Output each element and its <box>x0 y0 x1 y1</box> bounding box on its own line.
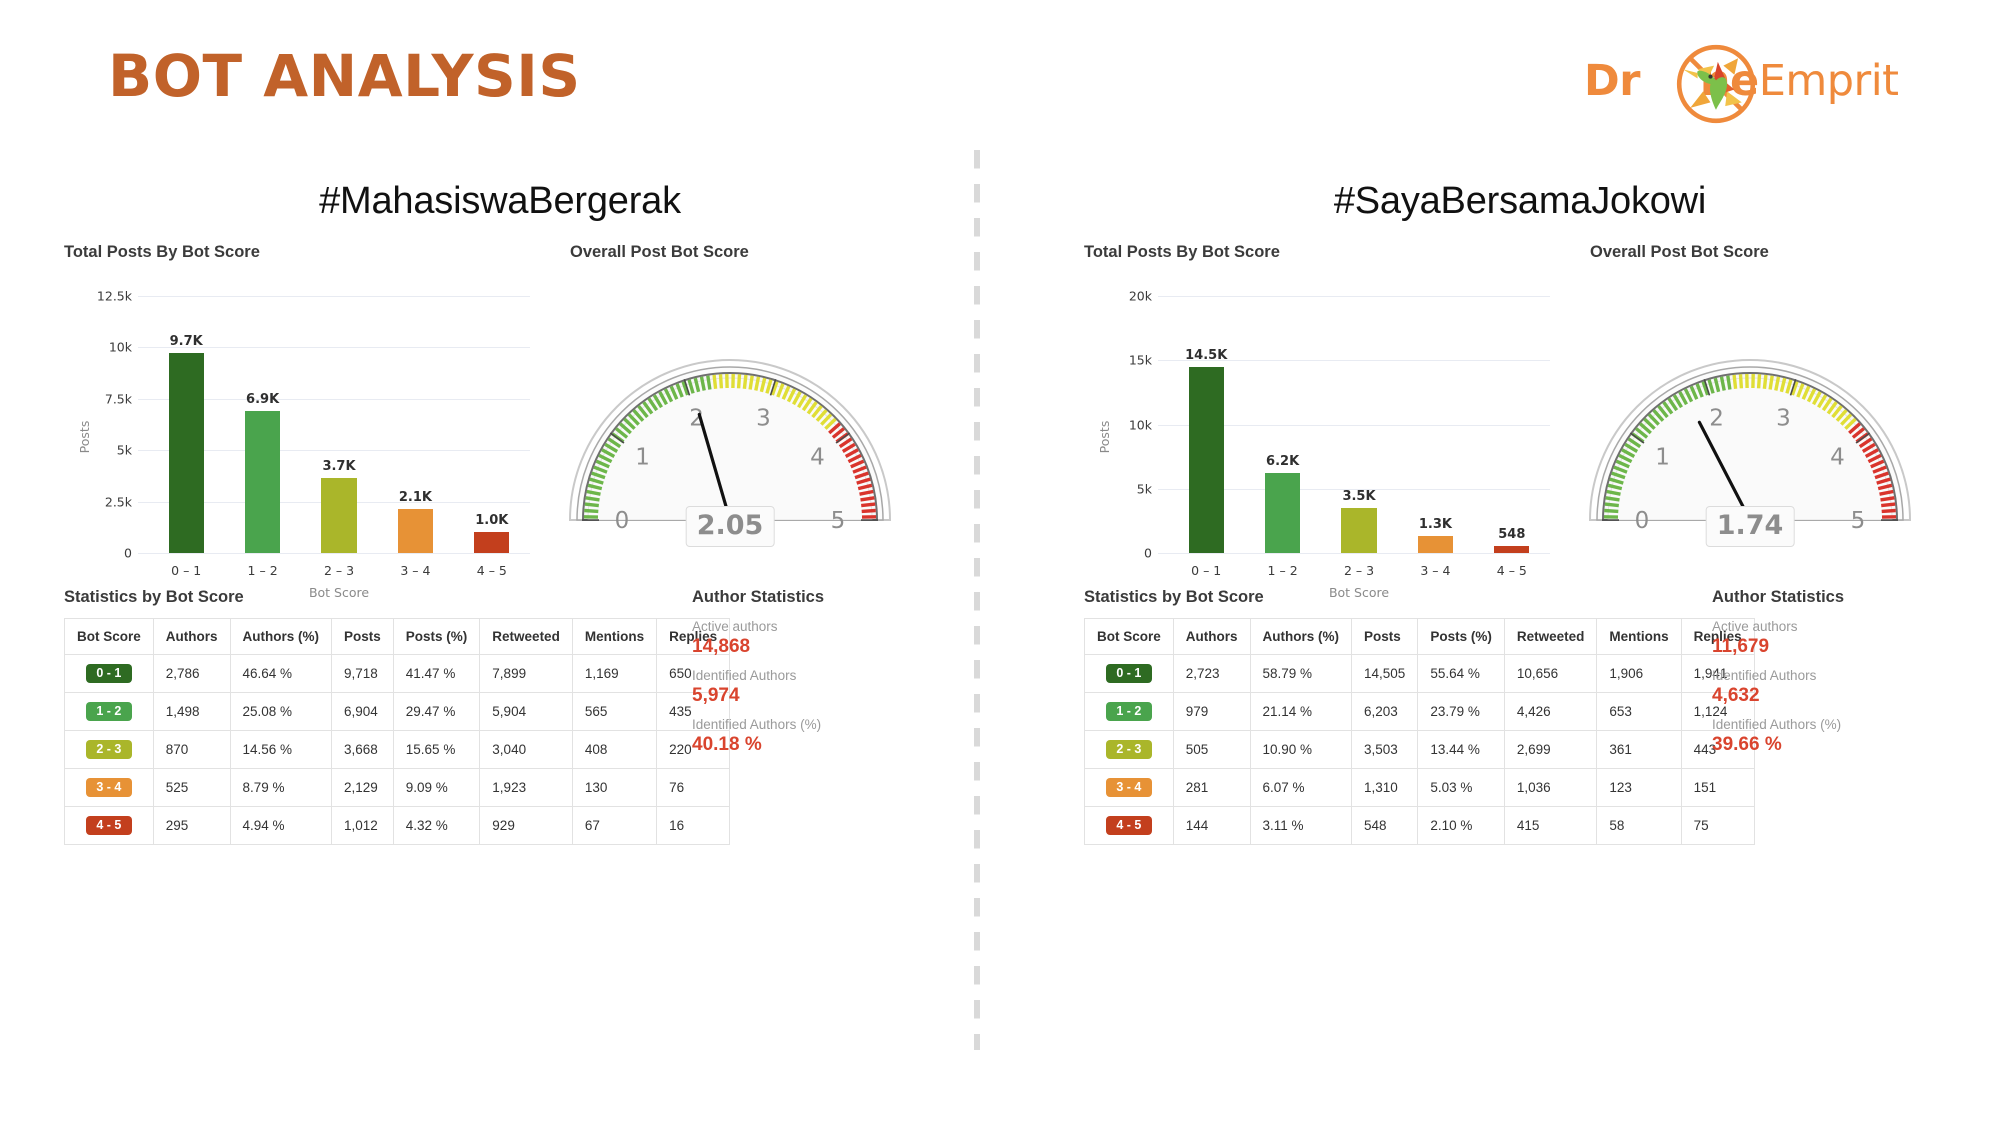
bot-score-cell: 1 - 2 <box>1085 693 1174 731</box>
table-cell: 144 <box>1173 807 1250 845</box>
statistics-by-bot-score-table: Bot ScoreAuthorsAuthors (%)PostsPosts (%… <box>1084 618 1755 845</box>
table-cell: 9.09 % <box>393 769 480 807</box>
drone-emprit-logo: DrneEmprit <box>1584 36 1944 132</box>
analysis-panel-2: #SayaBersamaJokowiTotal Posts By Bot Sco… <box>1050 150 1990 1110</box>
table-cell: 21.14 % <box>1250 693 1352 731</box>
table-cell: 46.64 % <box>230 655 332 693</box>
table-cell: 565 <box>572 693 656 731</box>
author-stat-value: 39.66 % <box>1712 734 1942 756</box>
table-cell: 1,498 <box>153 693 230 731</box>
table-cell: 653 <box>1597 693 1681 731</box>
author-stat-value: 11,679 <box>1712 636 1942 658</box>
table-cell: 295 <box>153 807 230 845</box>
column-header[interactable]: Posts (%) <box>1418 619 1505 655</box>
svg-text:5: 5 <box>831 508 846 534</box>
column-header[interactable]: Retweeted <box>480 619 573 655</box>
x-tick-label: 4 – 5 <box>1474 563 1550 578</box>
table-cell: 6,904 <box>332 693 394 731</box>
gauge-title: Overall Post Bot Score <box>570 243 749 262</box>
bot-score-badge: 0 - 1 <box>1106 664 1152 683</box>
author-stat-label: Identified Authors <box>692 668 922 683</box>
svg-text:3: 3 <box>1776 405 1791 431</box>
table-cell: 75 <box>1681 807 1754 845</box>
bar-series: 14.5K 6.2K 3.5K 1.3K 548 <box>1168 296 1550 553</box>
bar-rect[interactable] <box>1189 367 1224 553</box>
table-cell: 5.03 % <box>1418 769 1505 807</box>
table-cell: 4,426 <box>1504 693 1597 731</box>
table-cell: 151 <box>1681 769 1754 807</box>
bar-chart-title: Total Posts By Bot Score <box>64 243 260 262</box>
statistics-by-bot-score-table: Bot ScoreAuthorsAuthors (%)PostsPosts (%… <box>64 618 730 845</box>
table-cell: 41.47 % <box>393 655 480 693</box>
total-posts-bar-chart: Posts 02.5k5k7.5k10k12.5k 9.7K 6.9K 3.7K… <box>64 272 544 602</box>
table-row[interactable]: 0 - 1 2,72358.79 %14,50555.64 %10,6561,9… <box>1085 655 1755 693</box>
table-cell: 1,906 <box>1597 655 1681 693</box>
column-header[interactable]: Authors (%) <box>1250 619 1352 655</box>
table-cell: 16 <box>657 807 730 845</box>
table-cell: 548 <box>1352 807 1418 845</box>
column-header[interactable]: Authors (%) <box>230 619 332 655</box>
table-header-row: Bot ScoreAuthorsAuthors (%)PostsPosts (%… <box>65 619 730 655</box>
column-header[interactable]: Posts <box>1352 619 1418 655</box>
author-statistics-title: Author Statistics <box>1712 588 1942 607</box>
table-cell: 525 <box>153 769 230 807</box>
table-cell: 1,923 <box>480 769 573 807</box>
x-tick-label: 4 – 5 <box>454 563 530 578</box>
bot-score-cell: 2 - 3 <box>65 731 154 769</box>
bar-rect[interactable] <box>474 532 509 553</box>
x-tick-label: 0 – 1 <box>148 563 224 578</box>
table-cell: 3.11 % <box>1250 807 1352 845</box>
table-cell: 8.79 % <box>230 769 332 807</box>
bar-value-label: 548 <box>1498 527 1525 542</box>
stats-table-title: Statistics by Bot Score <box>1084 588 1264 607</box>
author-stat-label: Identified Authors (%) <box>1712 717 1942 732</box>
table-cell: 1,169 <box>572 655 656 693</box>
author-stat-value: 5,974 <box>692 685 922 707</box>
author-stat-value: 40.18 % <box>692 734 922 756</box>
bot-score-badge: 4 - 5 <box>1106 816 1152 835</box>
hummingbird-icon <box>1670 38 1762 130</box>
table-cell: 7,899 <box>480 655 573 693</box>
plot-area: 05k10k15k20k 14.5K 6.2K 3.5K 1.3K 548 <box>1168 296 1550 554</box>
table-row[interactable]: 1 - 2 97921.14 %6,20323.79 %4,4266531,12… <box>1085 693 1755 731</box>
bar-rect[interactable] <box>321 478 356 553</box>
slide-root: BOT ANALYSIS DrneEmprit #MahasiswaBerger… <box>0 0 2000 1146</box>
x-tick-label: 2 – 3 <box>301 563 377 578</box>
analysis-panel-1: #MahasiswaBergerakTotal Posts By Bot Sco… <box>30 150 970 1110</box>
table-cell: 408 <box>572 731 656 769</box>
plot-area: 02.5k5k7.5k10k12.5k 9.7K 6.9K 3.7K 2.1K … <box>148 296 530 554</box>
table-cell: 3,503 <box>1352 731 1418 769</box>
bar-value-label: 3.5K <box>1342 489 1375 504</box>
svg-text:0: 0 <box>1635 508 1650 534</box>
y-tick-label: 5k <box>117 443 132 458</box>
author-statistics-panel: Author StatisticsActive authors 14,868Id… <box>692 588 922 756</box>
bar-value-label: 6.2K <box>1266 454 1299 469</box>
author-stat-value: 4,632 <box>1712 685 1942 707</box>
table-cell: 361 <box>1597 731 1681 769</box>
table-cell: 870 <box>153 731 230 769</box>
y-tick-label: 15k <box>1129 353 1152 368</box>
bar-rect[interactable] <box>1494 546 1529 553</box>
svg-text:1: 1 <box>1655 445 1670 471</box>
column-header[interactable]: Bot Score <box>65 619 154 655</box>
column-header[interactable]: Mentions <box>1597 619 1681 655</box>
table-cell: 5,904 <box>480 693 573 731</box>
svg-text:4: 4 <box>810 445 825 471</box>
bar-rect[interactable] <box>1265 473 1300 553</box>
table-cell: 2,723 <box>1173 655 1250 693</box>
table-cell: 505 <box>1173 731 1250 769</box>
bar-value-label: 6.9K <box>246 392 279 407</box>
table-cell: 929 <box>480 807 573 845</box>
bot-score-cell: 2 - 3 <box>1085 731 1174 769</box>
author-stat-label: Active authors <box>1712 619 1942 634</box>
y-tick-label: 10k <box>1129 417 1152 432</box>
table-cell: 14,505 <box>1352 655 1418 693</box>
bot-score-badge: 2 - 3 <box>1106 740 1152 759</box>
y-tick-label: 12.5k <box>97 289 132 304</box>
table-cell: 6,203 <box>1352 693 1418 731</box>
svg-text:0: 0 <box>615 508 630 534</box>
bar-item[interactable]: 3.5K <box>1321 296 1397 553</box>
page-title: BOT ANALYSIS <box>108 42 581 110</box>
author-stat-label: Active authors <box>692 619 922 634</box>
table-cell: 1,036 <box>1504 769 1597 807</box>
logo-text-part3: Emprit <box>1759 56 1899 106</box>
bar-rect[interactable] <box>398 509 433 553</box>
bot-score-badge: 1 - 2 <box>1106 702 1152 721</box>
table-cell: 2,129 <box>332 769 394 807</box>
bot-score-badge: 0 - 1 <box>86 664 132 683</box>
overall-bot-score-gauge: 012345 1.74 <box>1580 310 1920 610</box>
table-row[interactable]: 3 - 4 2816.07 %1,3105.03 %1,036123151 <box>1085 769 1755 807</box>
table-cell: 58 <box>1597 807 1681 845</box>
y-tick-label: 2.5k <box>105 494 132 509</box>
bar-item[interactable]: 2.1K <box>377 296 453 553</box>
table-cell: 3,040 <box>480 731 573 769</box>
table-cell: 10.90 % <box>1250 731 1352 769</box>
svg-text:2: 2 <box>1709 405 1724 431</box>
gauge-value-readout: 1.74 <box>1706 506 1795 547</box>
svg-text:4: 4 <box>1830 445 1845 471</box>
bar-rect[interactable] <box>1341 508 1376 553</box>
table-cell: 2,786 <box>153 655 230 693</box>
bar-item[interactable]: 548 <box>1474 296 1550 553</box>
bar-rect[interactable] <box>169 353 204 553</box>
table-cell: 55.64 % <box>1418 655 1505 693</box>
table-cell: 76 <box>657 769 730 807</box>
bot-score-badge: 1 - 2 <box>86 702 132 721</box>
column-header[interactable]: Bot Score <box>1085 619 1174 655</box>
column-header[interactable]: Posts <box>332 619 394 655</box>
table-cell: 6.07 % <box>1250 769 1352 807</box>
gridline <box>1158 553 1550 554</box>
table-row[interactable]: 0 - 1 2,78646.64 %9,71841.47 %7,8991,169… <box>65 655 730 693</box>
y-tick-label: 0 <box>1144 546 1152 561</box>
table-cell: 58.79 % <box>1250 655 1352 693</box>
bar-value-label: 1.0K <box>475 513 508 528</box>
author-statistics-title: Author Statistics <box>692 588 922 607</box>
bot-score-cell: 0 - 1 <box>1085 655 1174 693</box>
bar-rect[interactable] <box>245 411 280 553</box>
bar-rect[interactable] <box>1418 536 1453 553</box>
table-header-row: Bot ScoreAuthorsAuthors (%)PostsPosts (%… <box>1085 619 1755 655</box>
x-tick-label: 1 – 2 <box>1244 563 1320 578</box>
bot-score-cell: 1 - 2 <box>65 693 154 731</box>
bar-value-label: 3.7K <box>322 459 355 474</box>
table-cell: 25.08 % <box>230 693 332 731</box>
y-axis-label: Posts <box>1097 421 1112 454</box>
table-cell: 281 <box>1173 769 1250 807</box>
stats-table-title: Statistics by Bot Score <box>64 588 244 607</box>
bar-item[interactable]: 6.9K <box>224 296 300 553</box>
svg-text:5: 5 <box>1851 508 1866 534</box>
gridline <box>138 553 530 554</box>
svg-text:1: 1 <box>635 445 650 471</box>
table-cell: 23.79 % <box>1418 693 1505 731</box>
bot-score-cell: 3 - 4 <box>65 769 154 807</box>
table-cell: 1,012 <box>332 807 394 845</box>
table-cell: 123 <box>1597 769 1681 807</box>
table-row[interactable]: 2 - 3 87014.56 %3,66815.65 %3,040408220 <box>65 731 730 769</box>
bar-item[interactable]: 3.7K <box>301 296 377 553</box>
logo-wordmark: DrneEmprit <box>1584 56 1944 116</box>
column-header[interactable]: Mentions <box>572 619 656 655</box>
table-cell: 130 <box>572 769 656 807</box>
bot-score-badge: 4 - 5 <box>86 816 132 835</box>
table-cell: 15.65 % <box>393 731 480 769</box>
logo-text-part1: Dr <box>1584 56 1640 106</box>
x-tick-labels: 0 – 11 – 22 – 33 – 44 – 5 <box>1168 563 1550 578</box>
x-tick-label: 3 – 4 <box>1397 563 1473 578</box>
y-tick-label: 7.5k <box>105 391 132 406</box>
table-cell: 2,699 <box>1504 731 1597 769</box>
y-tick-label: 10k <box>109 340 132 355</box>
bot-score-badge: 2 - 3 <box>86 740 132 759</box>
table-row[interactable]: 4 - 5 2954.94 %1,0124.32 %9296716 <box>65 807 730 845</box>
table-cell: 13.44 % <box>1418 731 1505 769</box>
overall-bot-score-gauge: 012345 2.05 <box>560 310 900 610</box>
x-tick-label: 1 – 2 <box>224 563 300 578</box>
table-row[interactable]: 2 - 3 50510.90 %3,50313.44 %2,699361443 <box>1085 731 1755 769</box>
x-tick-labels: 0 – 11 – 22 – 33 – 44 – 5 <box>148 563 530 578</box>
table-cell: 10,656 <box>1504 655 1597 693</box>
gauge-value-readout: 2.05 <box>686 506 775 547</box>
bot-score-cell: 0 - 1 <box>65 655 154 693</box>
table-cell: 4.32 % <box>393 807 480 845</box>
panel-hashtag-title: #MahasiswaBergerak <box>30 180 970 223</box>
table-row[interactable]: 4 - 5 1443.11 %5482.10 %4155875 <box>1085 807 1755 845</box>
table-cell: 67 <box>572 807 656 845</box>
bar-item[interactable]: 1.0K <box>454 296 530 553</box>
table-cell: 3,668 <box>332 731 394 769</box>
bot-score-badge: 3 - 4 <box>86 778 132 797</box>
table-cell: 29.47 % <box>393 693 480 731</box>
gauge-title: Overall Post Bot Score <box>1590 243 1769 262</box>
y-tick-label: 5k <box>1137 481 1152 496</box>
table-row[interactable]: 1 - 2 1,49825.08 %6,90429.47 %5,90456543… <box>65 693 730 731</box>
author-statistics-panel: Author StatisticsActive authors 11,679Id… <box>1712 588 1942 756</box>
table-cell: 2.10 % <box>1418 807 1505 845</box>
table-cell: 1,310 <box>1352 769 1418 807</box>
bar-series: 9.7K 6.9K 3.7K 2.1K 1.0K <box>148 296 530 553</box>
x-tick-label: 3 – 4 <box>377 563 453 578</box>
author-stat-value: 14,868 <box>692 636 922 658</box>
column-header[interactable]: Authors <box>1173 619 1250 655</box>
table-cell: 4.94 % <box>230 807 332 845</box>
x-tick-label: 0 – 1 <box>1168 563 1244 578</box>
author-stat-label: Identified Authors <box>1712 668 1942 683</box>
total-posts-bar-chart: Posts 05k10k15k20k 14.5K 6.2K 3.5K 1.3K … <box>1084 272 1564 602</box>
x-tick-label: 2 – 3 <box>1321 563 1397 578</box>
y-tick-label: 20k <box>1129 289 1152 304</box>
bot-score-cell: 3 - 4 <box>1085 769 1174 807</box>
table-cell: 9,718 <box>332 655 394 693</box>
bar-value-label: 14.5K <box>1185 348 1227 363</box>
column-header[interactable]: Retweeted <box>1504 619 1597 655</box>
bar-value-label: 2.1K <box>399 490 432 505</box>
column-header[interactable]: Authors <box>153 619 230 655</box>
column-header[interactable]: Posts (%) <box>393 619 480 655</box>
bar-item[interactable]: 14.5K <box>1168 296 1244 553</box>
panel-divider <box>974 150 980 1050</box>
bar-value-label: 9.7K <box>170 334 203 349</box>
bot-score-badge: 3 - 4 <box>1106 778 1152 797</box>
bot-score-cell: 4 - 5 <box>1085 807 1174 845</box>
table-row[interactable]: 3 - 4 5258.79 %2,1299.09 %1,92313076 <box>65 769 730 807</box>
bar-item[interactable]: 6.2K <box>1244 296 1320 553</box>
bar-chart-title: Total Posts By Bot Score <box>1084 243 1280 262</box>
bot-score-cell: 4 - 5 <box>65 807 154 845</box>
y-tick-label: 0 <box>124 546 132 561</box>
bar-item[interactable]: 1.3K <box>1397 296 1473 553</box>
table-cell: 415 <box>1504 807 1597 845</box>
panel-hashtag-title: #SayaBersamaJokowi <box>1050 180 1990 223</box>
svg-text:3: 3 <box>756 405 771 431</box>
table-cell: 14.56 % <box>230 731 332 769</box>
author-stat-label: Identified Authors (%) <box>692 717 922 732</box>
bar-item[interactable]: 9.7K <box>148 296 224 553</box>
table-cell: 979 <box>1173 693 1250 731</box>
bar-value-label: 1.3K <box>1419 517 1452 532</box>
y-axis-label: Posts <box>77 421 92 454</box>
